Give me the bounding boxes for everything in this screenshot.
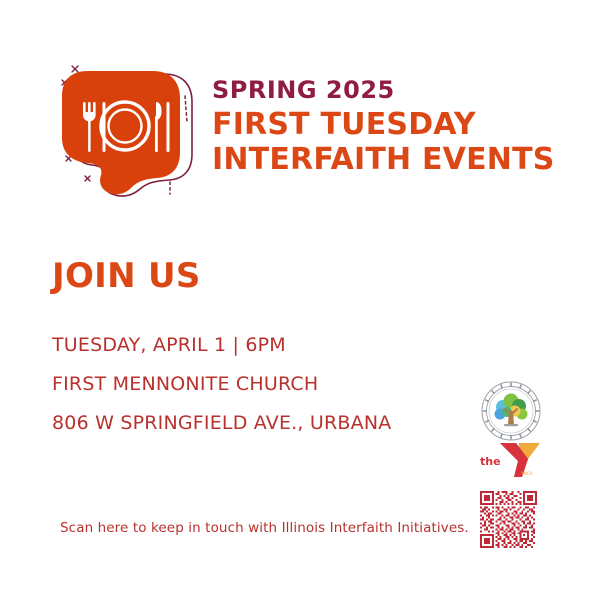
season-label: SPRING 2025 bbox=[212, 78, 592, 104]
y-logo-the-label: the bbox=[480, 455, 501, 468]
plate-fork-knife-speech-bubble-logo bbox=[52, 58, 197, 203]
qr-code[interactable] bbox=[480, 491, 537, 548]
y-logo-ymca-label: YMCA bbox=[520, 471, 533, 476]
event-address: 806 W SPRINGFIELD AVE., URBANA bbox=[52, 414, 452, 433]
scan-instruction-text: Scan here to keep in touch with Illinois… bbox=[60, 520, 469, 536]
event-details: TUESDAY, APRIL 1 | 6PM FIRST MENNONITE C… bbox=[52, 336, 452, 433]
event-title-line-1: FIRST TUESDAY bbox=[212, 107, 592, 142]
join-us-heading: JOIN US bbox=[52, 258, 201, 295]
flyer-header: SPRING 2025 FIRST TUESDAY INTERFAITH EVE… bbox=[0, 0, 600, 215]
event-flyer: SPRING 2025 FIRST TUESDAY INTERFAITH EVE… bbox=[0, 0, 600, 600]
partner-logo-column: the YMCA bbox=[476, 381, 546, 548]
event-date-time: TUESDAY, APRIL 1 | 6PM bbox=[52, 336, 452, 355]
event-venue: FIRST MENNONITE CHURCH bbox=[52, 375, 452, 394]
header-text-block: SPRING 2025 FIRST TUESDAY INTERFAITH EVE… bbox=[212, 78, 592, 177]
the-y-ymca-logo: the YMCA bbox=[478, 439, 544, 481]
event-title-line-2: INTERFAITH EVENTS bbox=[212, 142, 592, 177]
university-tree-seal-logo bbox=[481, 381, 541, 441]
